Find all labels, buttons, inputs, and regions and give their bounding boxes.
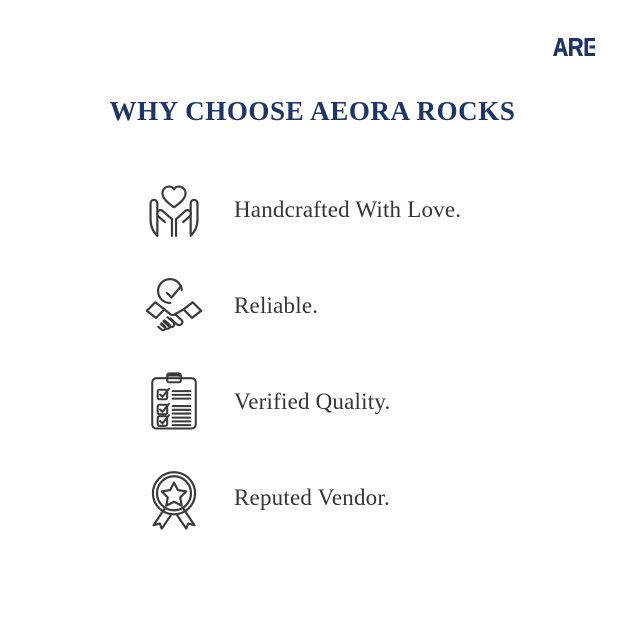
handshake-check-icon xyxy=(138,270,210,342)
hands-holding-heart-icon xyxy=(138,174,210,246)
feature-list: Handcrafted With Love. xyxy=(0,162,625,546)
list-item: Verified Quality. xyxy=(0,354,625,450)
list-item-label: Handcrafted With Love. xyxy=(234,197,461,223)
list-item: Reliable. xyxy=(0,258,625,354)
page-title: WHY CHOOSE AEORA ROCKS xyxy=(0,96,625,127)
are-wordmark-icon xyxy=(553,36,595,58)
clipboard-checklist-icon xyxy=(138,366,210,438)
list-item-label: Verified Quality. xyxy=(234,389,390,415)
list-item: Reputed Vendor. xyxy=(0,450,625,546)
list-item-label: Reputed Vendor. xyxy=(234,485,390,511)
promo-card: WHY CHOOSE AEORA ROCKS Handcrafted xyxy=(0,0,625,625)
list-item: Handcrafted With Love. xyxy=(0,162,625,258)
award-ribbon-star-icon xyxy=(138,462,210,534)
list-item-label: Reliable. xyxy=(234,293,318,319)
brand-logo[interactable] xyxy=(553,36,595,58)
